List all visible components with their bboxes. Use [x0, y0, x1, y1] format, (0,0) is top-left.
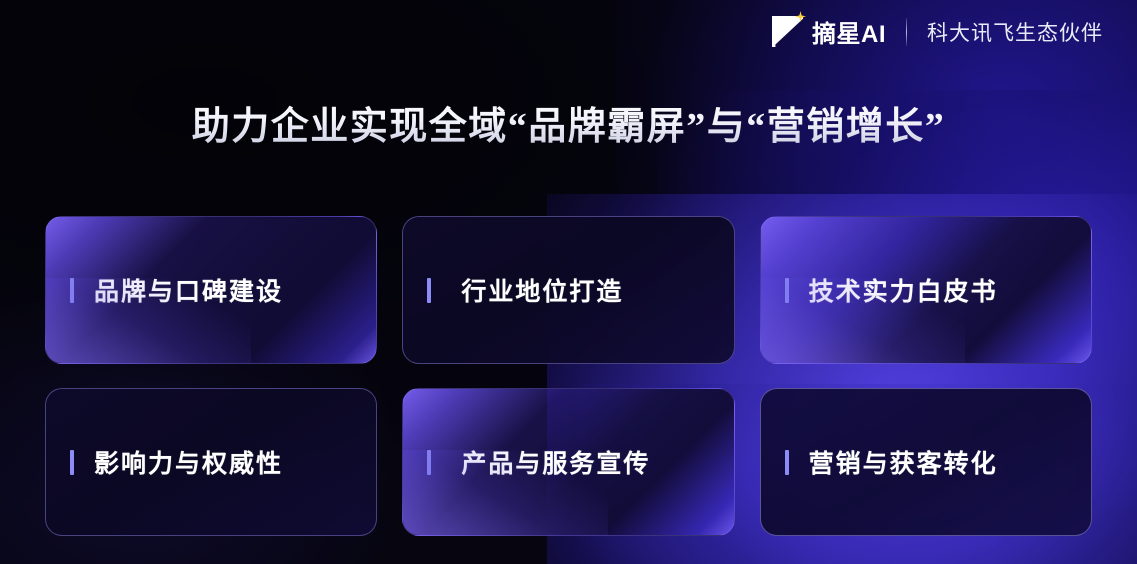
feature-card-industry-position[interactable]: 行业地位打造 [402, 216, 734, 364]
feature-card-marketing-conversion[interactable]: 营销与获客转化 [760, 388, 1092, 536]
accent-bar-icon [785, 450, 789, 475]
accent-bar-icon [785, 278, 789, 303]
feature-card-label: 行业地位打造 [461, 272, 623, 308]
feature-card-label: 影响力与权威性 [94, 444, 283, 480]
feature-card-influence-authority[interactable]: 影响力与权威性 [45, 388, 377, 536]
page-title: 助力企业实现全域“品牌霸屏”与“营销增长” [0, 95, 1137, 150]
accent-bar-icon [70, 450, 74, 475]
accent-bar-icon [427, 278, 431, 303]
feature-card-grid: 品牌与口碑建设 行业地位打造 技术实力白皮书 影响力与权威性 产品与服务宣传 营… [45, 216, 1092, 536]
header-divider [906, 18, 907, 46]
feature-card-tech-whitepaper[interactable]: 技术实力白皮书 [760, 216, 1092, 364]
accent-bar-icon [427, 450, 431, 475]
slide-root: 摘星AI 科大讯飞生态伙伴 助力企业实现全域“品牌霸屏”与“营销增长” 品牌与口… [0, 0, 1137, 564]
feature-card-product-promotion[interactable]: 产品与服务宣传 [402, 388, 734, 536]
feature-card-label: 营销与获客转化 [809, 444, 998, 480]
feature-card-label: 产品与服务宣传 [461, 444, 650, 480]
feature-card-brand-reputation[interactable]: 品牌与口碑建设 [45, 216, 377, 364]
feature-card-label: 技术实力白皮书 [809, 272, 998, 308]
partner-label: 科大讯飞生态伙伴 [927, 17, 1103, 47]
brand-lockup: 摘星AI [772, 14, 886, 49]
header-brand-bar: 摘星AI 科大讯飞生态伙伴 [772, 14, 1103, 49]
accent-bar-icon [70, 278, 74, 303]
brand-name: 摘星AI [812, 14, 886, 49]
feature-card-label: 品牌与口碑建设 [94, 272, 283, 308]
zhaixing-logo-icon [772, 16, 803, 47]
